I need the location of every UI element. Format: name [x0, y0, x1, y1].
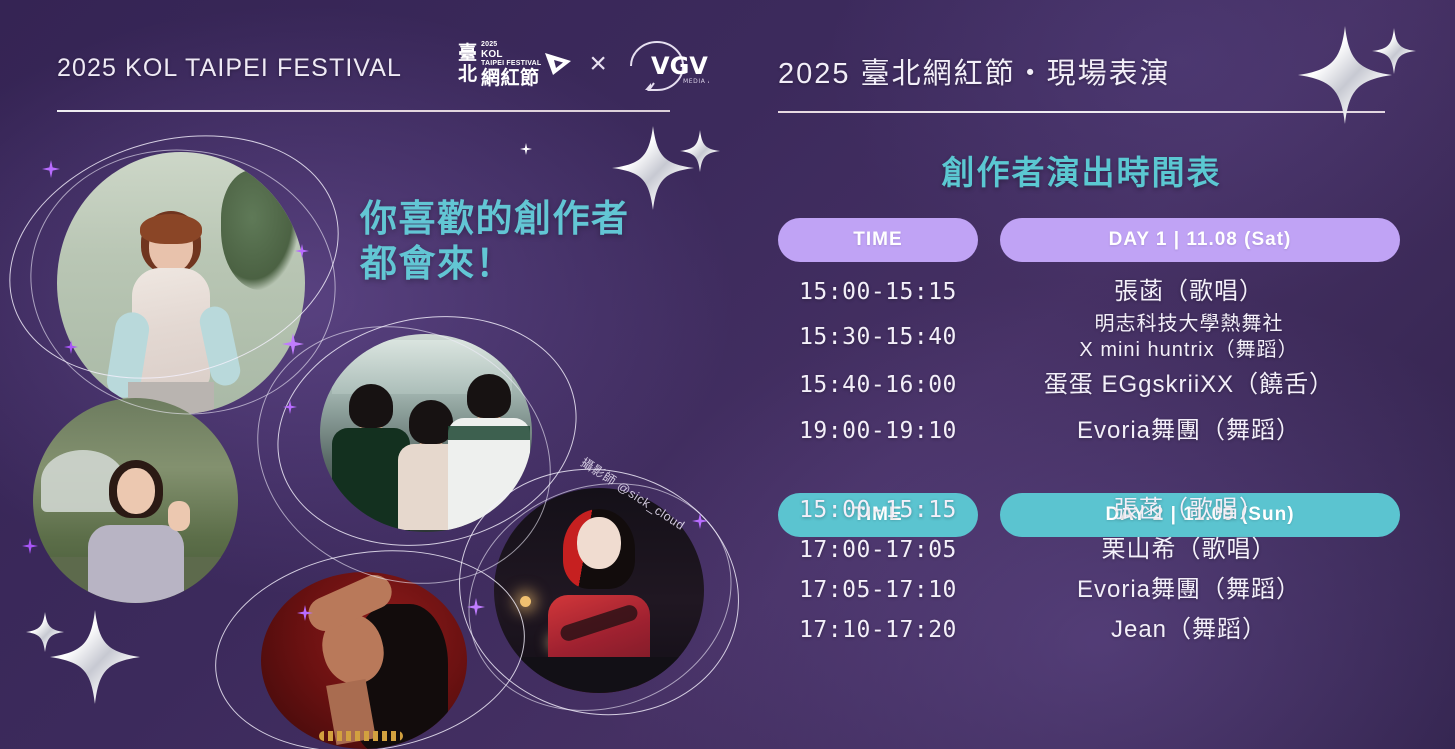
schedule-row-performer: 明志科技大學熱舞社X mini huntrix（舞蹈） — [978, 311, 1400, 363]
creator-photo-4 — [261, 572, 467, 749]
kol-logo-acronym: KOL — [481, 49, 541, 60]
creator-photo-2 — [33, 398, 238, 603]
photo-1-fringe — [140, 214, 202, 244]
schedule-row-time: 17:00-17:05 — [778, 537, 978, 563]
schedule-row-performer: 栗山希（歌唱） — [978, 535, 1400, 565]
kol-logo-year: 2025 — [481, 41, 541, 49]
creator-photo-1 — [57, 152, 305, 414]
schedule-row[interactable]: 17:00-17:05栗山希（歌唱） — [778, 530, 1400, 570]
kol-logo-cjk-column: 臺 北 — [458, 43, 477, 85]
sparkle-star-large-topright — [1298, 26, 1392, 129]
schedule-row-performer-line: Evoria舞團（舞蹈） — [978, 575, 1400, 605]
kol-logo-cjk-main: 網紅節 — [481, 68, 541, 88]
time-column-header-day-1[interactable]: TIME — [778, 218, 978, 262]
schedule-row-time: 15:00-15:15 — [778, 279, 978, 305]
glint-icon-10 — [520, 142, 532, 160]
schedule-row-performer: 張菡（歌唱） — [978, 495, 1400, 525]
schedule-row[interactable]: 15:40-16:00蛋蛋 EGgskriiXX（饒舌） — [778, 362, 1400, 408]
schedule-row-performer: Jean（舞蹈） — [978, 615, 1400, 645]
schedule-row[interactable]: 15:00-15:15張菡（歌唱） — [778, 272, 1400, 312]
photo-3-hair-left — [349, 384, 393, 428]
schedule-row-performer-line: X mini huntrix（舞蹈） — [978, 337, 1400, 363]
schedule-row-time: 15:00-15:15 — [778, 497, 978, 523]
day-column-header-day-1[interactable]: DAY 1 | 11.08 (Sat) — [1000, 218, 1400, 262]
schedule-row[interactable]: 15:30-15:40明志科技大學熱舞社X mini huntrix（舞蹈） — [778, 312, 1400, 362]
photo-3-hair-right — [467, 374, 511, 418]
photo-5-streetlight-1 — [520, 596, 531, 607]
schedule-row-time: 17:10-17:20 — [778, 617, 978, 643]
schedule-rows-day-1: 15:00-15:15張菡（歌唱）15:30-15:40明志科技大學熱舞社X m… — [778, 272, 1400, 454]
photo-5-skirt — [494, 657, 704, 693]
schedule-header-row-day-1: TIMEDAY 1 | 11.08 (Sat) — [778, 218, 1400, 262]
logo-cross-icon: × — [587, 49, 609, 79]
schedule-row-performer-line: 明志科技大學熱舞社 — [978, 311, 1400, 337]
schedule-row-performer-line: 蛋蛋 EGgskriiXX（饒舌） — [978, 370, 1400, 400]
sparkle-star-large-bottomleft — [50, 610, 140, 709]
vgv-media-asia-logo: VGV MEDIA ASIA — [623, 36, 709, 92]
schedule-row-performer-line: 張菡（歌唱） — [978, 495, 1400, 525]
schedule-row-performer-line: Jean（舞蹈） — [978, 615, 1400, 645]
hero-tagline-line-1: 你喜歡的創作者 — [360, 196, 630, 241]
kol-logo-char-tai: 臺 — [458, 43, 477, 64]
schedule-row-performer: 張菡（歌唱） — [978, 277, 1400, 307]
schedule-rows-day-2: 15:00-15:15張菡（歌唱）17:00-17:05栗山希（歌唱）17:05… — [778, 490, 1400, 650]
glint-icon-9 — [467, 598, 485, 621]
poster-canvas: 2025 KOL TAIPEI FESTIVAL 2025 臺北網紅節・現場表演… — [0, 0, 1455, 749]
hero-tagline: 你喜歡的創作者 都會來！ — [360, 196, 630, 286]
schedule-row[interactable]: 15:00-15:15張菡（歌唱） — [778, 490, 1400, 530]
kol-logo-text-block: 2025 KOL TAIPEI FESTIVAL 網紅節 — [481, 41, 541, 88]
sparkle-star-small-topright — [1372, 28, 1416, 79]
schedule-row-time: 19:00-19:10 — [778, 418, 978, 444]
schedule-row-time: 15:40-16:00 — [778, 372, 978, 398]
schedule-row-performer-line: Evoria舞團（舞蹈） — [978, 416, 1400, 446]
schedule-row[interactable]: 17:05-17:10Evoria舞團（舞蹈） — [778, 570, 1400, 610]
schedule-row[interactable]: 17:10-17:20Jean（舞蹈） — [778, 610, 1400, 650]
svg-text:VGV: VGV — [651, 52, 708, 80]
photo-2-head — [117, 468, 155, 514]
svg-text:MEDIA ASIA: MEDIA ASIA — [683, 78, 709, 85]
photo-4-necklace — [319, 731, 403, 741]
header-divider-left — [57, 110, 670, 112]
play-arrow-icon — [543, 51, 573, 77]
photo-5-head — [577, 517, 621, 569]
photo-3-hair-center — [409, 400, 453, 444]
sparkle-star-small-bottomleft — [26, 612, 64, 657]
schedule-row-time: 15:30-15:40 — [778, 324, 978, 350]
kol-logo-char-bei: 北 — [458, 64, 477, 85]
schedule-row-performer: 蛋蛋 EGgskriiXX（饒舌） — [978, 370, 1400, 400]
schedule-row-time: 17:05-17:10 — [778, 577, 978, 603]
schedule-row-performer-line: 張菡（歌唱） — [978, 277, 1400, 307]
schedule-title: 創作者演出時間表 — [778, 146, 1385, 194]
photo-2-hand — [168, 501, 190, 531]
photo-2-torso — [88, 525, 184, 603]
photo-3-jersey-stripe — [448, 426, 530, 440]
schedule-row-performer-line: 栗山希（歌唱） — [978, 535, 1400, 565]
kol-taipei-festival-logo: 臺 北 2025 KOL TAIPEI FESTIVAL 網紅節 — [458, 41, 573, 88]
header-divider-right — [778, 111, 1385, 113]
schedule-row-performer: Evoria舞團（舞蹈） — [978, 575, 1400, 605]
sparkle-star-small-left — [680, 130, 720, 177]
logo-lockup: 臺 北 2025 KOL TAIPEI FESTIVAL 網紅節 × V — [458, 33, 709, 95]
festival-title-zh: 2025 臺北網紅節・現場表演 — [778, 50, 1171, 92]
hero-tagline-line-2: 都會來！ — [360, 241, 630, 286]
festival-title-en: 2025 KOL TAIPEI FESTIVAL — [57, 54, 402, 83]
schedule-row-performer: Evoria舞團（舞蹈） — [978, 416, 1400, 446]
photo-1-subject — [107, 220, 235, 410]
schedule-row[interactable]: 19:00-19:10Evoria舞團（舞蹈） — [778, 408, 1400, 454]
